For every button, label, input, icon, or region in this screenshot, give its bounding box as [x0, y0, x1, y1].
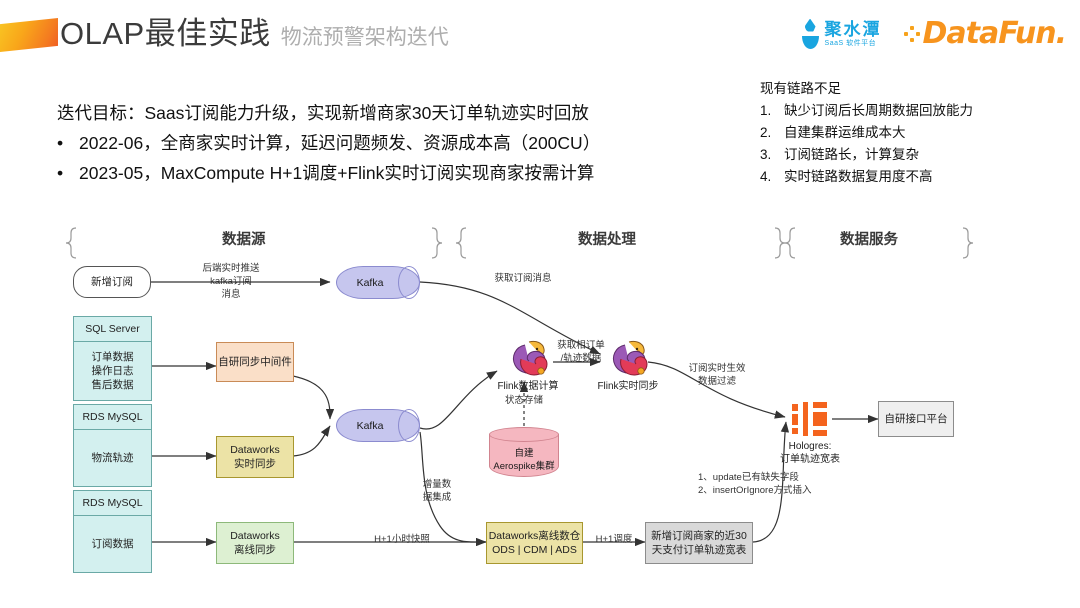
bullet-dot: • — [57, 128, 79, 158]
issue-item: 4. 实时链路数据复用度不高 — [760, 166, 973, 188]
node-rds1-body: 物流轨迹 — [73, 430, 152, 487]
title-subtitle: 物流预警架构迭代 — [281, 21, 449, 51]
edge-label-incremental-integration: 增量数 据集成 — [411, 478, 463, 504]
jushuitan-name: 聚水潭 — [825, 21, 882, 38]
lead-bullet: • 2022-06，全商家实时计算，延迟问题频发、资源成本高（200CU） — [57, 128, 600, 158]
issues-title: 现有链路不足 — [760, 78, 973, 100]
hologres-icon[interactable] — [790, 400, 832, 438]
jushuitan-tagline: SaaS 软件平台 — [825, 40, 882, 47]
page-title: OLAP最佳实践 物流预警架构迭代 — [60, 8, 449, 53]
edge-label-get-order-data: 获取相订单 /轨迹数据 — [553, 339, 609, 365]
flink-squirrel-icon[interactable] — [505, 339, 551, 379]
node-flink-sync-label: Flink实时同步 — [578, 380, 678, 393]
corner-decoration — [0, 18, 58, 52]
bullet-dot: • — [57, 158, 79, 188]
slide: OLAP最佳实践 物流预警架构迭代 聚水潭 SaaS 软件平台 DataFun.… — [0, 0, 1080, 608]
edge-label-get-subscription-message: 获取订阅消息 — [478, 272, 568, 285]
node-rds1-head: RDS MySQL — [73, 404, 152, 430]
section-title-processing: 数据处理 — [578, 228, 636, 249]
edge-label-h1-schedule: H+1调度 — [586, 533, 642, 546]
node-rds2-body: 订阅数据 — [73, 516, 152, 573]
node-sqlserver-head: SQL Server — [73, 316, 152, 342]
node-aerospike-l1: 自建 — [489, 447, 559, 460]
node-kafka-top-label: Kafka — [336, 266, 420, 299]
node-dataworks-offline-warehouse[interactable]: Dataworks离线数仓 ODS | CDM | ADS — [486, 522, 583, 564]
node-kafka-mid-label: Kafka — [336, 409, 420, 442]
lead-bullet: • 2023-05，MaxCompute H+1调度+Flink实时订阅实现商家… — [57, 158, 600, 188]
lead-goal: 迭代目标：Saas订阅能力升级，实现新增商家30天订单轨迹实时回放 — [57, 98, 600, 128]
node-api-platform[interactable]: 自研接口平台 — [878, 401, 954, 437]
node-dataworks-realtime-sync[interactable]: Dataworks 实时同步 — [216, 436, 294, 478]
edge-note-upsert: 1、update已有缺失字段 2、insertOrIgnore方式插入 — [698, 471, 858, 497]
node-kafka-mid[interactable]: Kafka — [336, 409, 420, 442]
node-sqlserver[interactable]: SQL Server 订单数据 操作日志 售后数据 — [73, 316, 152, 401]
edge-label-subscription-realtime: 订阅实时生效 数据过滤 — [676, 362, 758, 388]
node-wide-table[interactable]: 新增订阅商家的近30 天支付订单轨迹宽表 — [645, 522, 753, 564]
issue-item: 2. 自建集群运维成本大 — [760, 122, 973, 144]
architecture-diagram: 数据源 数据处理 数据服务 新增订阅 Kafka SQL Server 订单数据… — [0, 206, 1080, 606]
lead-bullet-text: 2022-06，全商家实时计算，延迟问题频发、资源成本高（200CU） — [79, 128, 600, 158]
node-rds-mysql-1[interactable]: RDS MySQL 物流轨迹 — [73, 404, 152, 487]
node-new-subscription[interactable]: 新增订阅 — [73, 266, 151, 298]
issue-text: 订阅链路长，计算复杂 — [784, 144, 919, 166]
node-sqlserver-body: 订单数据 操作日志 售后数据 — [73, 342, 152, 401]
node-aerospike-l2: Aerospike集群 — [489, 460, 559, 473]
issue-number: 1. — [760, 100, 784, 122]
node-rds2-head: RDS MySQL — [73, 490, 152, 516]
issue-text: 实时链路数据复用度不高 — [784, 166, 933, 188]
node-hologres-label: Hologres: 订单轨迹宽表 — [760, 440, 860, 466]
edge-label-push: 后端实时推送 kafka订阅 消息 — [186, 262, 276, 301]
lead-bullet-text: 2023-05，MaxCompute H+1调度+Flink实时订阅实现商家按需… — [79, 158, 594, 188]
lead-text-block: 迭代目标：Saas订阅能力升级，实现新增商家30天订单轨迹实时回放 • 2022… — [57, 98, 600, 188]
issue-item: 3. 订阅链路长，计算复杂 — [760, 144, 973, 166]
jushuitan-logo: 聚水潭 SaaS 软件平台 — [802, 19, 882, 49]
node-self-developed-sync-middleware[interactable]: 自研同步中间件 — [216, 342, 294, 382]
logo-group: 聚水潭 SaaS 软件平台 DataFun. — [802, 16, 1066, 51]
datafun-logo: DataFun. — [904, 16, 1066, 51]
section-title-datasource: 数据源 — [222, 228, 266, 249]
issue-number: 2. — [760, 122, 784, 144]
node-aerospike-cluster[interactable]: 自建 Aerospike集群 — [489, 427, 559, 477]
node-flink-calc-label: Flink数据计算 — [478, 380, 578, 393]
issue-text: 缺少订阅后长周期数据回放能力 — [784, 100, 973, 122]
title-main: OLAP最佳实践 — [60, 8, 271, 53]
issue-text: 自建集群运维成本大 — [784, 122, 906, 144]
edge-label-hourly-snapshot: H+1小时快照 — [364, 533, 440, 546]
issues-block: 现有链路不足 1. 缺少订阅后长周期数据回放能力 2. 自建集群运维成本大 3.… — [760, 78, 973, 188]
edge-label-state-store: 状态存储 — [494, 394, 554, 407]
node-dataworks-offline-sync[interactable]: Dataworks 离线同步 — [216, 522, 294, 564]
issue-item: 1. 缺少订阅后长周期数据回放能力 — [760, 100, 973, 122]
water-drop-icon — [802, 19, 819, 49]
flink-squirrel-icon[interactable] — [605, 339, 651, 379]
node-kafka-top[interactable]: Kafka — [336, 266, 420, 299]
issue-number: 3. — [760, 144, 784, 166]
node-rds-mysql-2[interactable]: RDS MySQL 订阅数据 — [73, 490, 152, 573]
section-title-service: 数据服务 — [840, 228, 898, 249]
issue-number: 4. — [760, 166, 784, 188]
datafun-wordmark: DataFun. — [923, 16, 1066, 51]
datafun-dots-icon — [904, 26, 920, 42]
